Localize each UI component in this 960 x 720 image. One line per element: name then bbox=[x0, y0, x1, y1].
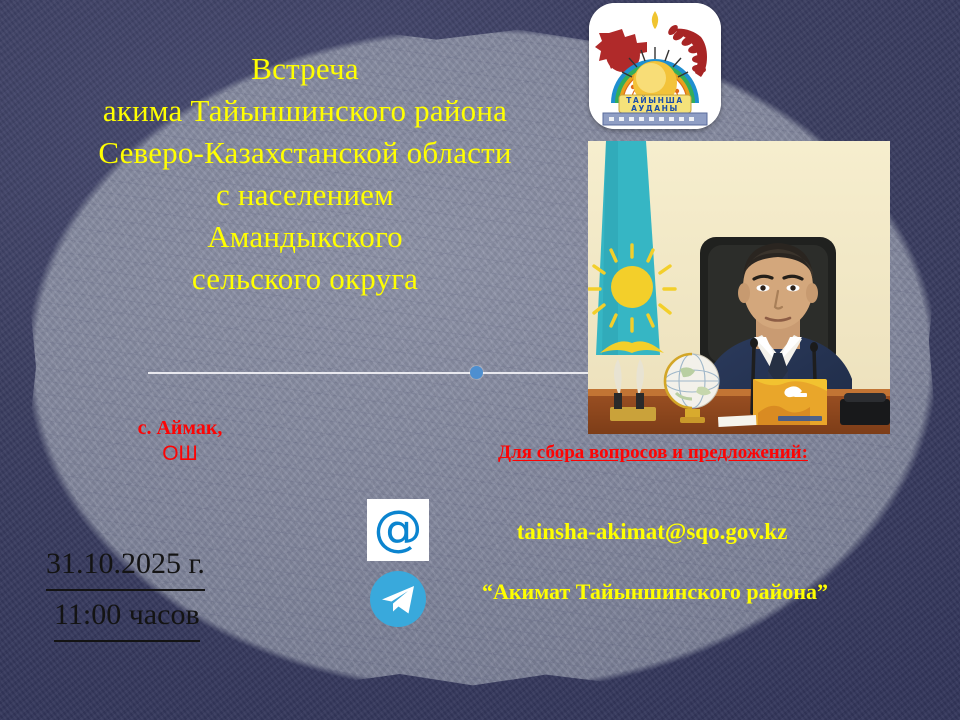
svg-text:@: @ bbox=[374, 500, 423, 557]
event-time: 11:00 часов bbox=[54, 591, 200, 642]
venue-settlement: с. Аймак, bbox=[60, 416, 300, 441]
title-line-1: Встреча bbox=[18, 48, 592, 90]
event-date-row: 31.10.2025 г. bbox=[40, 540, 310, 591]
title-line-3: Северо-Казахстанской области bbox=[18, 132, 592, 174]
venue-block: с. Аймак, ОШ bbox=[60, 416, 300, 467]
event-date: 31.10.2025 г. bbox=[46, 540, 205, 591]
at-sign-icon: @ bbox=[367, 499, 429, 561]
title-line-2: акима Тайыншинского района bbox=[18, 90, 592, 132]
emblem-text-line-2: АУДАНЫ bbox=[631, 104, 679, 113]
event-time-row: 11:00 часов bbox=[40, 591, 310, 642]
telegram-channel-name[interactable]: “Акимат Тайыншинского района” bbox=[440, 578, 870, 606]
tayynsha-district-emblem-icon: ТАЙЫНША АУДАНЫ bbox=[589, 3, 721, 129]
contact-header-text: Для сбора вопросов и предложений: bbox=[498, 442, 808, 463]
page-title: Встреча акима Тайыншинского района Север… bbox=[18, 48, 592, 300]
telegram-icon[interactable] bbox=[369, 570, 427, 628]
section-divider bbox=[148, 371, 618, 374]
title-line-5: Амандыкского bbox=[18, 216, 592, 258]
venue-building: ОШ bbox=[60, 441, 300, 467]
announcement-slide: Встреча акима Тайыншинского района Север… bbox=[0, 0, 960, 720]
divider-dot-icon bbox=[470, 366, 483, 379]
divider-line bbox=[148, 372, 618, 374]
contact-email[interactable]: tainsha-akimat@sqo.gov.kz bbox=[452, 518, 852, 546]
contact-section-header: Для сбора вопросов и предложений: bbox=[418, 441, 888, 465]
akim-portrait-photo bbox=[588, 141, 890, 434]
title-line-4: с населением bbox=[18, 174, 592, 216]
datetime-block: 31.10.2025 г. 11:00 часов bbox=[40, 540, 310, 642]
title-line-6: сельского округа bbox=[18, 258, 592, 300]
